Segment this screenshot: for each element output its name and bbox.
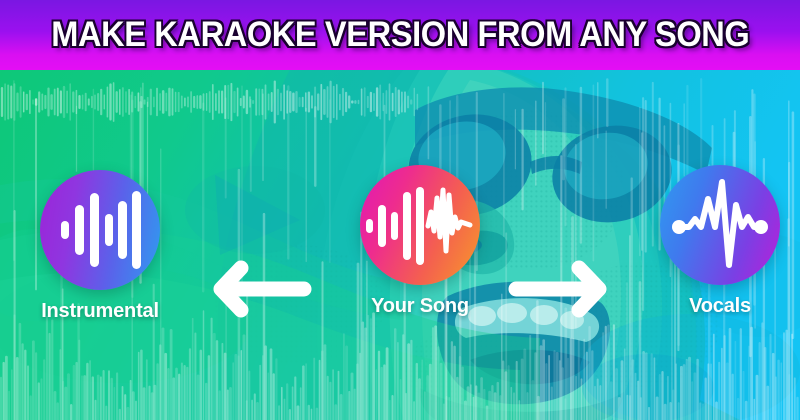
vocals-label: Vocals (635, 295, 800, 318)
vocals-disc-wrap[interactable] (660, 165, 780, 285)
flow-node-vocals[interactable]: Vocals (635, 165, 800, 318)
page-title: MAKE KARAOKE VERSION FROM ANY SONG (51, 15, 749, 55)
arrow-right-icon (508, 258, 626, 320)
background-stage: Instrumental Your Song (0, 70, 800, 420)
instrumental-label: Instrumental (15, 300, 185, 323)
instrumental-disc-wrap[interactable] (40, 170, 160, 290)
waveform-mixed-icon (360, 165, 480, 285)
waveform-top-group (2, 82, 417, 123)
karaoke-promo-banner: MAKE KARAOKE VERSION FROM ANY SONG (0, 0, 800, 420)
flow-node-instrumental[interactable]: Instrumental (15, 170, 185, 323)
your-song-label: Your Song (335, 295, 505, 318)
pulse-line-icon (660, 165, 780, 285)
header-bar: MAKE KARAOKE VERSION FROM ANY SONG (0, 0, 800, 70)
arrow-left-icon (194, 258, 312, 320)
flow-node-your-song[interactable]: Your Song (335, 165, 505, 318)
equalizer-bars-icon (40, 170, 160, 290)
your-song-disc-wrap[interactable] (360, 165, 480, 285)
